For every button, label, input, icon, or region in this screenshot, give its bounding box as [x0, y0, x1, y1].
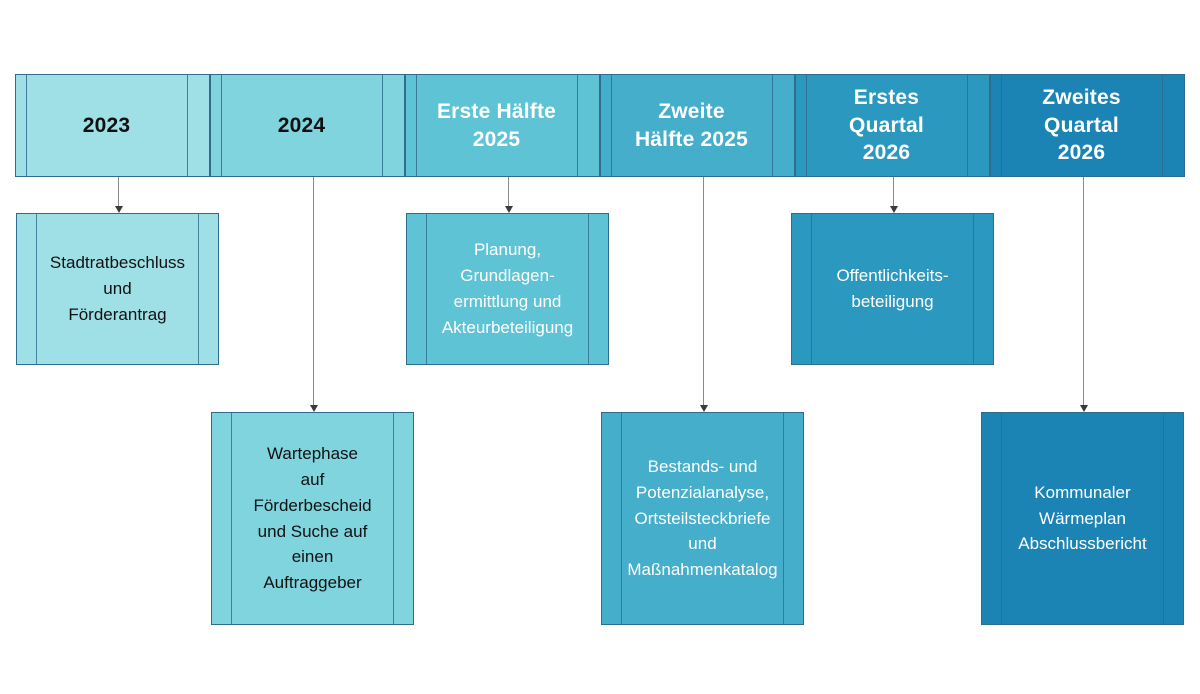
segment-rule-left: [26, 75, 27, 176]
timeline-segment-label: 2023: [71, 112, 155, 140]
note-rule-left: [811, 214, 812, 364]
note-rule-left: [1001, 413, 1002, 624]
timeline-segment-erstes-quartal-2026[interactable]: Erstes Quartal 2026: [795, 74, 990, 177]
note-rule-left: [36, 214, 37, 364]
timeline-segment-label: 2024: [266, 112, 350, 140]
note-box-label: Planung, Grundlagen- ermittlung und Akte…: [436, 237, 579, 340]
segment-rule-right: [1162, 75, 1163, 176]
timeline-segment-label: Erste Hälfte 2025: [425, 98, 580, 153]
timeline-segment-label: Zweites Quartal 2026: [1030, 84, 1144, 167]
note-box-label: Kommunaler Wärmeplan Abschlussbericht: [1012, 480, 1153, 557]
timeline-segment-label: Zweite Hälfte 2025: [623, 98, 772, 153]
connector-arrowhead-icon: [700, 405, 708, 412]
connector-line: [703, 177, 704, 405]
segment-rule-left: [806, 75, 807, 176]
timeline-segment-2024[interactable]: 2024: [210, 74, 405, 177]
note-rule-left: [231, 413, 232, 624]
connector-line: [118, 177, 119, 206]
note-box-label: Wartephase auf Förderbescheid und Suche …: [247, 441, 377, 596]
segment-rule-right: [772, 75, 773, 176]
connector-line: [508, 177, 509, 206]
connector-arrowhead-icon: [115, 206, 123, 213]
note-box-stadtratbeschluss[interactable]: Stadtratbeschluss und Förderantrag: [16, 213, 219, 365]
note-rule-left: [426, 214, 427, 364]
segment-rule-right: [967, 75, 968, 176]
note-box-label: Offentlichkeits- beteiligung: [830, 263, 954, 315]
note-box-planung[interactable]: Planung, Grundlagen- ermittlung und Akte…: [406, 213, 609, 365]
timeline-segment-erste-haelfte-2025[interactable]: Erste Hälfte 2025: [405, 74, 600, 177]
note-box-offentlichkeits[interactable]: Offentlichkeits- beteiligung: [791, 213, 994, 365]
note-box-kommunaler[interactable]: Kommunaler Wärmeplan Abschlussbericht: [981, 412, 1184, 625]
timeline-segment-zweites-quartal-2026[interactable]: Zweites Quartal 2026: [990, 74, 1185, 177]
segment-rule-left: [611, 75, 612, 176]
connector-line: [893, 177, 894, 206]
segment-rule-left: [416, 75, 417, 176]
connector-line: [1083, 177, 1084, 405]
note-rule-right: [198, 214, 199, 364]
timeline-diagram: 20232024Erste Hälfte 2025Zweite Hälfte 2…: [0, 0, 1200, 694]
segment-rule-left: [221, 75, 222, 176]
note-rule-right: [1163, 413, 1164, 624]
note-rule-right: [588, 214, 589, 364]
timeline-segment-2023[interactable]: 2023: [15, 74, 210, 177]
note-box-label: Stadtratbeschluss und Förderantrag: [44, 250, 191, 327]
note-box-label: Bestands- und Potenzialanalyse, Ortsteil…: [621, 454, 783, 583]
connector-arrowhead-icon: [310, 405, 318, 412]
segment-rule-left: [1001, 75, 1002, 176]
connector-arrowhead-icon: [505, 206, 513, 213]
connector-arrowhead-icon: [1080, 405, 1088, 412]
note-box-wartephase[interactable]: Wartephase auf Förderbescheid und Suche …: [211, 412, 414, 625]
connector-arrowhead-icon: [890, 206, 898, 213]
note-rule-right: [393, 413, 394, 624]
timeline-segment-zweite-haelfte-2025[interactable]: Zweite Hälfte 2025: [600, 74, 795, 177]
note-box-bestands-und[interactable]: Bestands- und Potenzialanalyse, Ortsteil…: [601, 412, 804, 625]
note-rule-right: [973, 214, 974, 364]
segment-rule-right: [187, 75, 188, 176]
segment-rule-right: [382, 75, 383, 176]
connector-line: [313, 177, 314, 405]
timeline-segment-label: Erstes Quartal 2026: [837, 84, 948, 167]
